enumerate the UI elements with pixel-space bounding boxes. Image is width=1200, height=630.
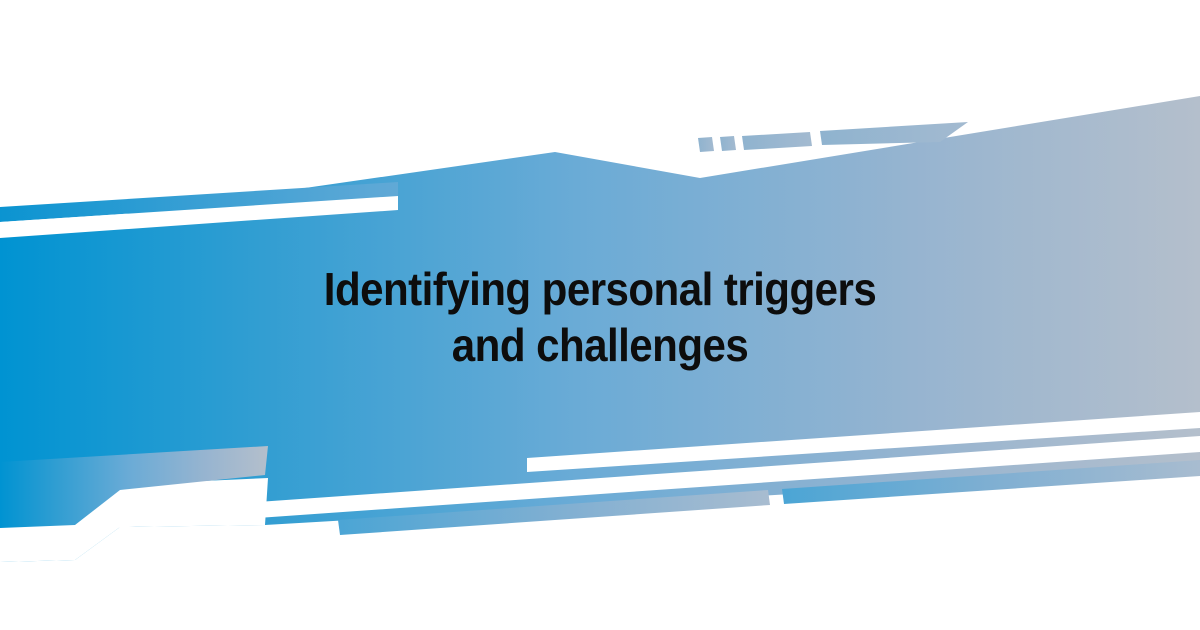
top-dash-square-small-1 [698, 137, 714, 152]
banner-card: Identifying personal triggers and challe… [0, 0, 1200, 630]
top-dash-square-small-2 [720, 136, 736, 151]
decorative-banner-graphic [0, 0, 1200, 630]
top-dash-medium [742, 132, 812, 150]
